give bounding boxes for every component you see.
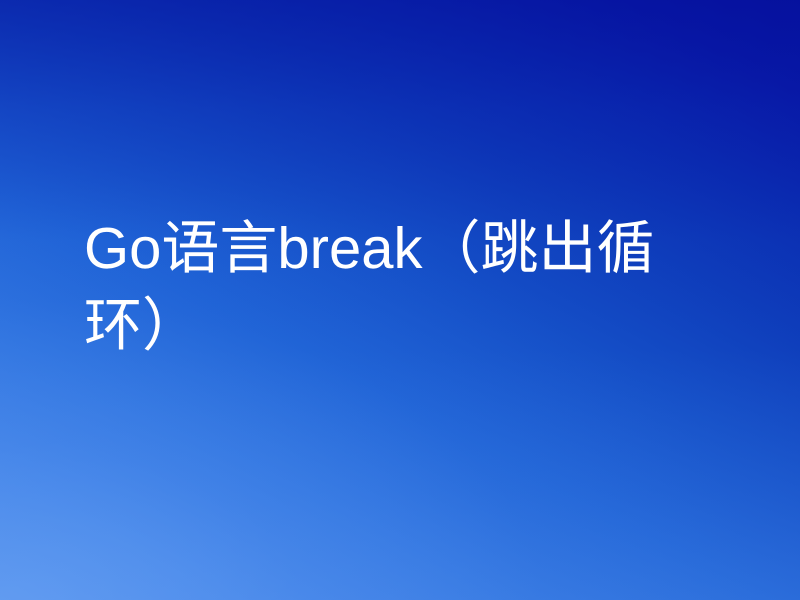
poster-canvas: Go语言break（跳出循环） bbox=[0, 0, 800, 600]
page-title: Go语言break（跳出循环） bbox=[84, 210, 684, 364]
title-block: Go语言break（跳出循环） bbox=[84, 210, 684, 364]
